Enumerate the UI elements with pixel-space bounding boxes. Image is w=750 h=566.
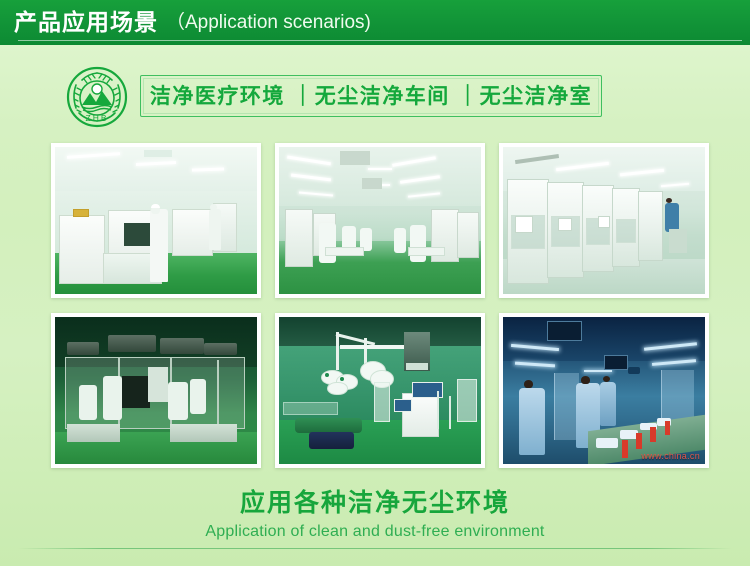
gallery-photo-1[interactable]: [51, 143, 261, 298]
header-underline: [18, 40, 742, 41]
page-title-cn: 产品应用场景: [14, 11, 158, 34]
footer-title-en: Application of clean and dust-free envir…: [0, 519, 750, 545]
photo-grid: www.china.cn: [51, 143, 699, 468]
slogan-row: ZHB 洁净医疗环境 ｜无尘洁净车间 ｜无尘洁净室: [0, 58, 750, 138]
gallery-photo-6[interactable]: www.china.cn: [499, 313, 709, 468]
production-line-image: www.china.cn: [503, 317, 705, 464]
gallery-photo-2[interactable]: [275, 143, 485, 298]
header-title-group: 产品应用场景 （Application scenarios): [14, 0, 371, 45]
watermark: www.china.cn: [641, 451, 700, 461]
zhb-logo-text: ZHB: [86, 113, 109, 123]
gallery-photo-3[interactable]: [499, 143, 709, 298]
gallery-photo-5[interactable]: [275, 313, 485, 468]
cleanroom-workshop-image: [55, 147, 257, 294]
slogan-box: 洁净医疗环境 ｜无尘洁净车间 ｜无尘洁净室: [140, 75, 602, 117]
footer-title-cn: 应用各种洁净无尘环境: [0, 488, 750, 519]
header-bar: 产品应用场景 （Application scenarios): [0, 0, 750, 45]
clean-booth-image: [55, 317, 257, 464]
operating-room-image: [279, 317, 481, 464]
bottom-divider: [18, 548, 732, 549]
gallery-photo-4[interactable]: [51, 313, 261, 468]
page-title-en: （Application scenarios): [166, 13, 371, 32]
zhb-logo: ZHB: [66, 66, 128, 128]
laminar-flow-benches-image: [503, 147, 705, 294]
slogan-text: 洁净医疗环境 ｜无尘洁净车间 ｜无尘洁净室: [150, 86, 592, 107]
application-scenarios-page: 产品应用场景 （Application scenarios): [0, 0, 750, 566]
footer-caption: 应用各种洁净无尘环境 Application of clean and dust…: [0, 488, 750, 545]
cleanroom-corridor-image: [279, 147, 481, 294]
